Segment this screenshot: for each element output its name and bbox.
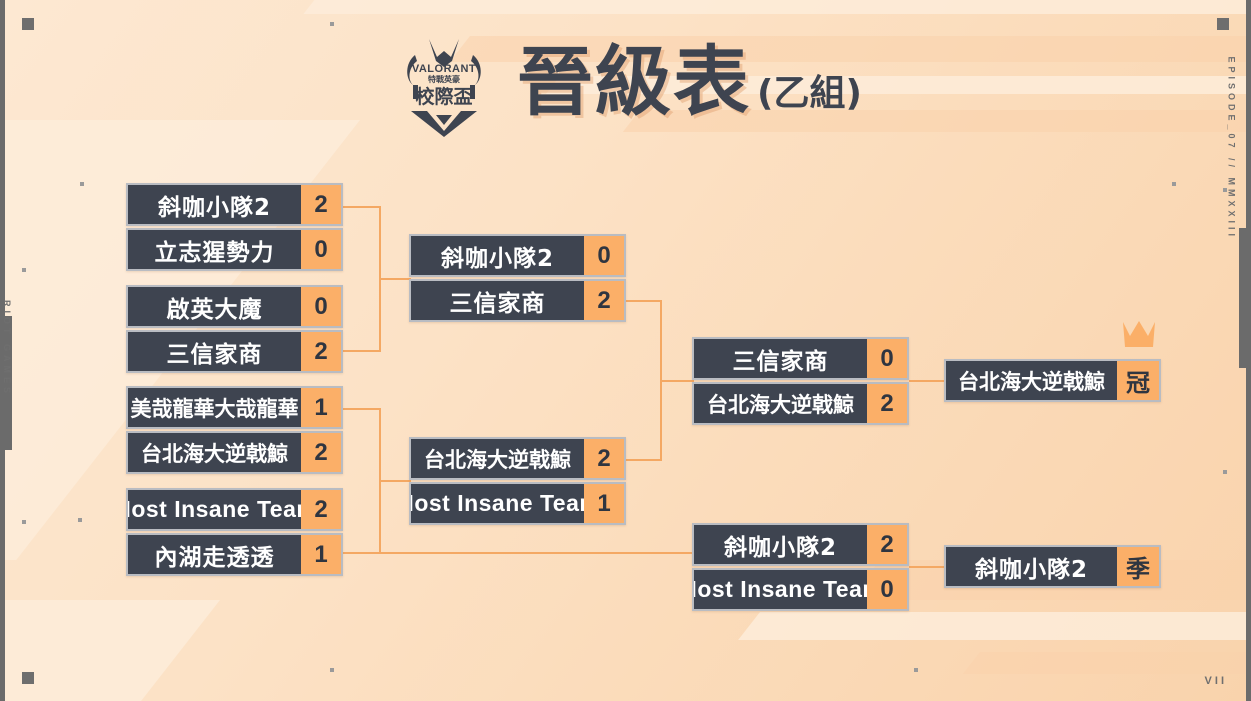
team-score: 0 [584,236,624,275]
connector [379,480,411,482]
crown-icon [1121,319,1157,354]
team-score: 0 [867,570,907,609]
team-score: 2 [867,384,907,423]
team-name: 台北海大逆戟鯨 [411,439,584,478]
team-score: 2 [301,185,341,224]
bracket-slot[interactable]: 斜咖小隊2 2 [126,183,343,226]
bracket-slot[interactable]: 台北海大逆戟鯨 2 [126,431,343,474]
connector [343,206,381,208]
team-name: 啟英大魔 [128,287,301,326]
team-name: 美哉龍華大哉龍華 [128,388,301,427]
team-score: 2 [301,332,341,371]
team-name: 立志猩勢力 [128,230,301,269]
match-final[interactable]: 三信家商 0 台北海大逆戟鯨 2 [692,337,909,425]
team-name: Most Insane Team [411,484,584,523]
bracket-slot[interactable]: 立志猩勢力 0 [126,228,343,271]
team-score: 1 [301,388,341,427]
connector [343,350,381,352]
third-place[interactable]: 斜咖小隊2 季 [944,545,1161,588]
match-third-place[interactable]: 斜咖小隊2 2 Most Insane Team 0 [692,523,909,611]
team-score: 0 [867,339,907,378]
connector [626,459,662,461]
connector [660,380,694,382]
connector [379,278,411,280]
team-score: 2 [584,439,624,478]
team-score: 2 [584,281,624,320]
bracket-slot[interactable]: 斜咖小隊2 2 [692,523,909,566]
team-name: 三信家商 [694,339,867,378]
team-name: 斜咖小隊2 [694,525,867,564]
team-name: 三信家商 [411,281,584,320]
team-name: 台北海大逆戟鯨 [694,384,867,423]
bracket-slot[interactable]: Most Insane Team 2 [126,488,343,531]
team-name: 斜咖小隊2 [411,236,584,275]
bracket-slot[interactable]: 美哉龍華大哉龍華 1 [126,386,343,429]
bracket-slot[interactable]: 斜咖小隊2 季 [944,545,1161,588]
team-name: Most Insane Team [128,490,301,529]
connector [909,380,945,382]
bracket-slot[interactable]: Most Insane Team 1 [409,482,626,525]
team-name: Most Insane Team [694,570,867,609]
bracket-slot[interactable]: 三信家商 2 [409,279,626,322]
connector [626,300,662,302]
team-score: 2 [301,490,341,529]
bracket-slot[interactable]: 三信家商 2 [126,330,343,373]
team-name: 斜咖小隊2 [946,547,1117,586]
bracket-slot[interactable]: 內湖走透透 1 [126,533,343,576]
match-r2-1[interactable]: 斜咖小隊2 0 三信家商 2 [409,234,626,322]
rank-badge: 冠 [1117,361,1159,400]
bracket-slot[interactable]: 台北海大逆戟鯨 冠 [944,359,1161,402]
tournament-bracket: 斜咖小隊2 2 立志猩勢力 0 啟英大魔 0 三信家商 2 美哉龍華大哉龍華 1… [0,0,1251,701]
team-score: 1 [301,535,341,574]
bracket-slot[interactable]: 啟英大魔 0 [126,285,343,328]
team-score: 2 [867,525,907,564]
team-name: 台北海大逆戟鯨 [946,361,1117,400]
bracket-slot[interactable]: 台北海大逆戟鯨 2 [692,382,909,425]
match-r2-2[interactable]: 台北海大逆戟鯨 2 Most Insane Team 1 [409,437,626,525]
team-name: 台北海大逆戟鯨 [128,433,301,472]
match-r1-4[interactable]: Most Insane Team 2 內湖走透透 1 [126,488,343,576]
match-r1-3[interactable]: 美哉龍華大哉龍華 1 台北海大逆戟鯨 2 [126,386,343,474]
bracket-slot[interactable]: 斜咖小隊2 0 [409,234,626,277]
match-r1-2[interactable]: 啟英大魔 0 三信家商 2 [126,285,343,373]
team-score: 2 [301,433,341,472]
team-score: 0 [301,230,341,269]
connector [343,408,381,410]
team-name: 三信家商 [128,332,301,371]
bracket-slot[interactable]: Most Insane Team 0 [692,568,909,611]
team-score: 1 [584,484,624,523]
bracket-slot[interactable]: 三信家商 0 [692,337,909,380]
team-score: 0 [301,287,341,326]
bracket-slot[interactable]: 台北海大逆戟鯨 2 [409,437,626,480]
rank-badge: 季 [1117,547,1159,586]
match-r1-1[interactable]: 斜咖小隊2 2 立志猩勢力 0 [126,183,343,271]
connector [343,552,693,554]
team-name: 斜咖小隊2 [128,185,301,224]
connector [909,566,945,568]
champion[interactable]: 台北海大逆戟鯨 冠 [944,359,1161,402]
team-name: 內湖走透透 [128,535,301,574]
